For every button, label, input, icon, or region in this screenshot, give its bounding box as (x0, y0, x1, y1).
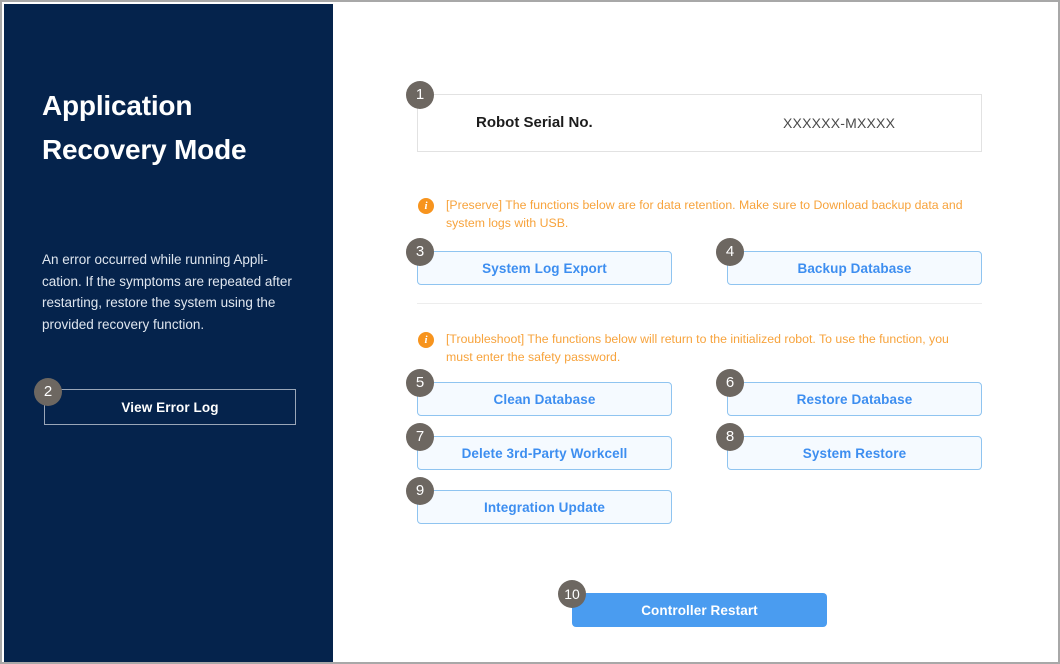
page-title: Application Recovery Mode (42, 84, 302, 172)
info-icon: i (418, 198, 434, 214)
backup-database-button[interactable]: Backup Database (727, 251, 982, 285)
restore-database-button[interactable]: Restore Database (727, 382, 982, 416)
troubleshoot-notice-text: [Troubleshoot] The functions below will … (446, 330, 976, 366)
system-log-export-button[interactable]: System Log Export (417, 251, 672, 285)
clean-database-button[interactable]: Clean Database (417, 382, 672, 416)
robot-serial-value: XXXXXX-MXXXX (783, 115, 895, 131)
step-badge-7: 7 (406, 423, 434, 451)
info-icon: i (418, 332, 434, 348)
step-badge-4: 4 (716, 238, 744, 266)
step-badge-2: 2 (34, 378, 62, 406)
robot-serial-card: Robot Serial No. XXXXXX-MXXXX (417, 94, 982, 152)
robot-serial-label: Robot Serial No. (476, 114, 593, 131)
view-error-log-group: View Error Log (44, 389, 296, 425)
section-divider (417, 303, 982, 304)
step-badge-10: 10 (558, 580, 586, 608)
step-badge-8: 8 (716, 423, 744, 451)
system-restore-button[interactable]: System Restore (727, 436, 982, 470)
step-badge-9: 9 (406, 477, 434, 505)
preserve-notice-text: [Preserve] The functions below are for d… (446, 196, 976, 232)
view-error-log-button[interactable]: View Error Log (44, 389, 296, 425)
step-badge-6: 6 (716, 369, 744, 397)
error-description: An error occurred while running Appli-ca… (42, 249, 294, 335)
delete-3rd-party-workcell-button[interactable]: Delete 3rd-Party Workcell (417, 436, 672, 470)
step-badge-1: 1 (406, 81, 434, 109)
recovery-mode-screen: Application Recovery Mode An error occur… (0, 0, 1060, 664)
step-badge-3: 3 (406, 238, 434, 266)
integration-update-button[interactable]: Integration Update (417, 490, 672, 524)
step-badge-5: 5 (406, 369, 434, 397)
controller-restart-button[interactable]: Controller Restart (572, 593, 827, 627)
sidebar: Application Recovery Mode An error occur… (4, 4, 333, 664)
